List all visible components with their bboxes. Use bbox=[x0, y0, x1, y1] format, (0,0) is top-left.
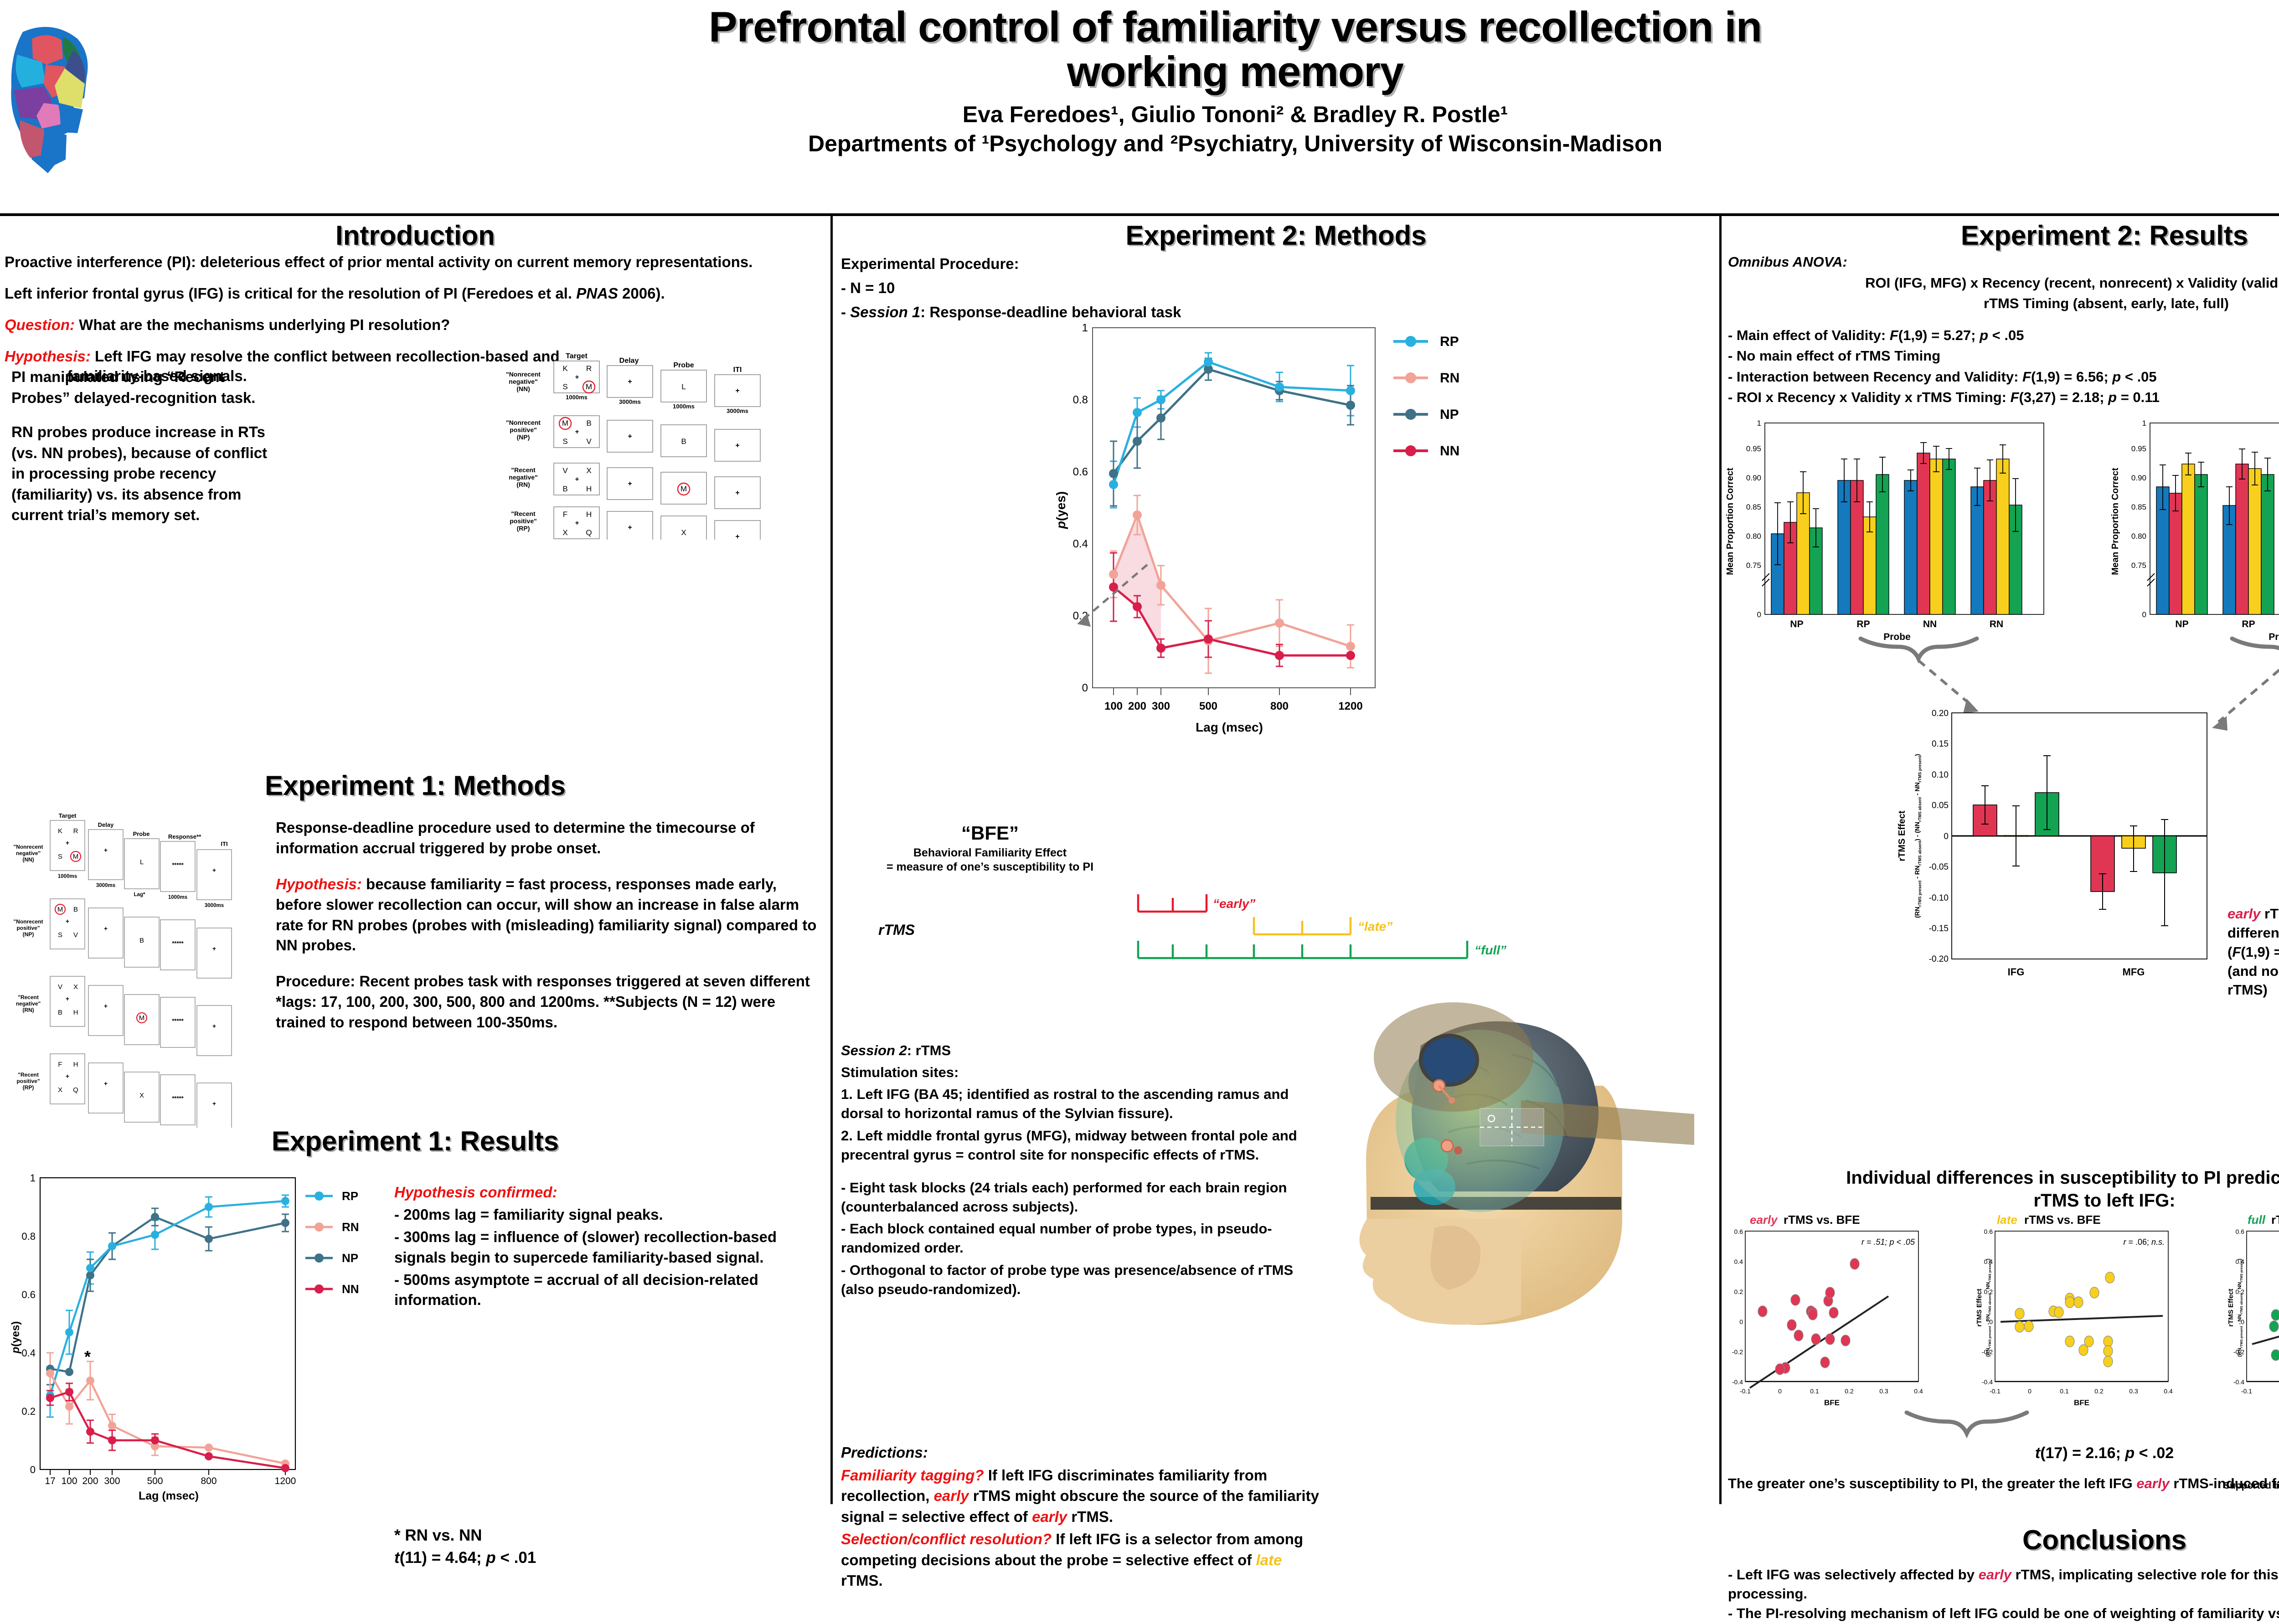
svg-text:K: K bbox=[562, 364, 568, 373]
svg-text:(RN): (RN) bbox=[22, 1007, 34, 1013]
svg-text:NP: NP bbox=[1790, 619, 1803, 629]
svg-text:NN: NN bbox=[342, 1282, 359, 1296]
svg-text:*****: ***** bbox=[172, 940, 184, 947]
svg-text:"Nonrecent: "Nonrecent bbox=[506, 371, 541, 378]
exp1-results-b1: - 200ms lag = familiarity signal peaks. bbox=[394, 1205, 818, 1225]
column-exp2-methods: Experiment 2: Methods Experimental Proce… bbox=[833, 216, 1719, 1504]
svg-text:IFG: IFG bbox=[2008, 966, 2025, 978]
svg-text:*****: ***** bbox=[172, 1095, 184, 1102]
exp1-stat-line-1: * RN vs. NN bbox=[394, 1524, 804, 1547]
svg-text:F: F bbox=[58, 1061, 62, 1068]
svg-text:0.3: 0.3 bbox=[1879, 1387, 1888, 1395]
scatter-late-title-em: late bbox=[1997, 1213, 2017, 1227]
rtms-timeline-label: rTMS bbox=[878, 922, 915, 938]
svg-text:0.8: 0.8 bbox=[21, 1231, 36, 1242]
svg-text:+: + bbox=[628, 524, 632, 531]
exp1-stat-line-2: t(11) = 4.64; p < .01 bbox=[394, 1547, 804, 1569]
indiv-head-line-2: rTMS to left IFG: bbox=[2033, 1191, 2175, 1211]
svg-text:0: 0 bbox=[2028, 1387, 2032, 1395]
svg-text:"Recent: "Recent bbox=[18, 994, 39, 1000]
svg-text:500: 500 bbox=[1199, 700, 1217, 712]
svg-text:positive": positive" bbox=[16, 1078, 40, 1084]
svg-text:1000ms: 1000ms bbox=[168, 895, 187, 900]
svg-text:+: + bbox=[212, 1100, 216, 1107]
svg-text:0.85: 0.85 bbox=[1746, 503, 1761, 511]
exp1-results-legend: RP RN NP NN bbox=[305, 1189, 359, 1296]
svg-text:rTMS Effect: rTMS Effect bbox=[1975, 1289, 1983, 1326]
diagram-header-delay: Delay bbox=[619, 357, 639, 365]
diagram-header-target: Target bbox=[566, 352, 588, 360]
svg-text:0.85: 0.85 bbox=[2131, 503, 2146, 511]
svg-text:0.75: 0.75 bbox=[2131, 561, 2146, 570]
session2-site-2: 2. Left middle frontal gyrus (MFG), midw… bbox=[841, 1126, 1301, 1165]
exp1-methods-hypothesis: Hypothesis: because familiarity = fast p… bbox=[276, 874, 823, 956]
section-heading-exp2-results: Experiment 2: Results bbox=[1722, 220, 2279, 251]
svg-text:0.8: 0.8 bbox=[1073, 394, 1088, 406]
anova-line-2: rTMS Timing (absent, early, late, full) bbox=[1728, 294, 2279, 313]
svg-text:0: 0 bbox=[1082, 682, 1088, 694]
svg-text:H: H bbox=[73, 1009, 78, 1016]
svg-text:"Nonrecent: "Nonrecent bbox=[13, 918, 43, 925]
scatter-full-title-rest: rTMS vs. BFE bbox=[2271, 1213, 2279, 1227]
svg-text:3000ms: 3000ms bbox=[619, 398, 641, 405]
svg-text:100: 100 bbox=[61, 1476, 77, 1486]
svg-text:BFE: BFE bbox=[1824, 1398, 1840, 1407]
svg-text:-0.4: -0.4 bbox=[1732, 1378, 1743, 1386]
pi-manipulation-text: PI manipulated using “Recent Probes” del… bbox=[11, 366, 276, 539]
exp1-results-stat: * RN vs. NN t(11) = 4.64; p < .01 bbox=[394, 1524, 804, 1569]
diagram-header-iti: ITI bbox=[733, 366, 742, 374]
svg-text:"Recent: "Recent bbox=[511, 466, 536, 474]
svg-text:+: + bbox=[628, 433, 632, 440]
scatter-plots-group: early rTMS vs. BFE r = .51; p < .05 0.60… bbox=[1728, 1212, 2279, 1444]
exp2-bfe-legend: RP RN NP NN bbox=[1393, 334, 1459, 459]
svg-text:+: + bbox=[628, 480, 632, 488]
svg-text:Mean Proportion Correct: Mean Proportion Correct bbox=[2110, 468, 2120, 575]
svg-text:F: F bbox=[563, 510, 567, 519]
timing-full-label: “full” bbox=[1475, 943, 1506, 957]
svg-text:0.90: 0.90 bbox=[1746, 474, 1761, 482]
svg-text:-0.15: -0.15 bbox=[1929, 924, 1949, 933]
svg-text:negative": negative" bbox=[16, 1000, 41, 1007]
anova-result-2: - No main effect of rTMS Timing bbox=[1728, 346, 2279, 366]
svg-text:300: 300 bbox=[104, 1476, 120, 1486]
predictions-label: Predictions: bbox=[841, 1442, 1324, 1463]
svg-text:X: X bbox=[73, 983, 78, 991]
svg-text:1000ms: 1000ms bbox=[58, 874, 77, 879]
svg-text:1000ms: 1000ms bbox=[673, 403, 695, 410]
exp1-methods-p2: Procedure: Recent probes task with respo… bbox=[276, 971, 823, 1033]
svg-text:0.05: 0.05 bbox=[1932, 801, 1949, 810]
svg-text:Lag (msec): Lag (msec) bbox=[139, 1490, 199, 1502]
authors: Eva Feredoes¹, Giulio Tononi² & Bradley … bbox=[346, 101, 2124, 128]
conclusion-2: - The PI-resolving mechanism of left IFG… bbox=[1728, 1604, 2279, 1623]
effect-text-4: rTMS) bbox=[2227, 982, 2268, 998]
svg-text:1000ms: 1000ms bbox=[566, 394, 588, 401]
scatter-full-title-em: full bbox=[2248, 1213, 2266, 1227]
svg-text:V: V bbox=[73, 931, 78, 939]
session2-sites-label: Stimulation sites: bbox=[841, 1063, 1301, 1082]
svg-text:+: + bbox=[628, 378, 632, 386]
svg-text:"Recent: "Recent bbox=[18, 1072, 39, 1078]
svg-text:0: 0 bbox=[1739, 1318, 1743, 1325]
svg-text:"Recent: "Recent bbox=[511, 510, 536, 517]
individual-differences-heading: Individual differences in susceptibility… bbox=[1735, 1166, 2279, 1212]
svg-text:0: 0 bbox=[1778, 1387, 1782, 1395]
svg-text:*****: ***** bbox=[172, 861, 184, 868]
exp2-session2-text: Session 2: rTMS Stimulation sites: 1. Le… bbox=[841, 1041, 1301, 1302]
svg-text:0.75: 0.75 bbox=[1746, 561, 1761, 570]
question-text: What are the mechanisms underlying PI re… bbox=[75, 316, 450, 333]
svg-text:+: + bbox=[104, 1080, 108, 1087]
svg-text:0.2: 0.2 bbox=[1734, 1288, 1743, 1295]
svg-text:17: 17 bbox=[45, 1476, 55, 1486]
svg-text:p(yes): p(yes) bbox=[1054, 491, 1068, 529]
prediction-2: Selection/conflict resolution? If left I… bbox=[841, 1529, 1324, 1591]
svg-text:0.80: 0.80 bbox=[1746, 532, 1761, 541]
indiv-head-line-1: Individual differences in susceptibility… bbox=[1846, 1168, 2279, 1188]
svg-text:H: H bbox=[586, 510, 592, 519]
exp2-bfe-chart: 1 0.8 0.6 0.4 0.2 0 p(yes) 100200300 500… bbox=[1033, 319, 1544, 797]
diagram-header-probe: Probe bbox=[673, 361, 694, 369]
svg-text:V: V bbox=[562, 466, 568, 475]
svg-text:0: 0 bbox=[2142, 610, 2146, 619]
svg-text:(NN): (NN) bbox=[516, 385, 530, 392]
question-label: Question: bbox=[5, 316, 75, 333]
rtms-timing-brackets: “early” “late” “full” bbox=[1029, 891, 1553, 973]
svg-text:+: + bbox=[735, 442, 739, 449]
svg-text:rTMS Effect: rTMS Effect bbox=[2227, 1289, 2235, 1326]
svg-text:+: + bbox=[212, 1022, 216, 1030]
svg-text:M: M bbox=[57, 906, 63, 913]
poster-header: W Prefrontal control of familiarity vers… bbox=[0, 0, 2279, 214]
svg-text:positive": positive" bbox=[16, 925, 40, 931]
exp2-effect-description: early rTMS had a significantly different… bbox=[2227, 904, 2279, 1000]
exp2-anova-text: Omnibus ANOVA: ROI (IFG, MFG) x Recency … bbox=[1728, 253, 2279, 409]
page-title: Prefrontal control of familiarity versus… bbox=[346, 5, 2124, 94]
section-heading-exp2-methods: Experiment 2: Methods bbox=[833, 220, 1719, 251]
section-heading-introduction: Introduction bbox=[0, 220, 830, 251]
svg-text:(RN): (RN) bbox=[516, 481, 530, 488]
timing-early-label: “early” bbox=[1213, 897, 1255, 911]
svg-text:+: + bbox=[66, 995, 69, 1002]
bfe-line-1: Behavioral Familiarity Effect bbox=[913, 846, 1067, 859]
svg-text:negative": negative" bbox=[509, 474, 537, 481]
svg-text:B: B bbox=[58, 1009, 62, 1016]
exp1-results-b2: - 300ms lag = influence of (slower) reco… bbox=[394, 1227, 818, 1268]
significance-asterisk: * bbox=[84, 1347, 91, 1366]
svg-text:+: + bbox=[66, 839, 69, 846]
svg-text:0.6: 0.6 bbox=[1734, 1228, 1743, 1235]
svg-text:-0.4: -0.4 bbox=[2233, 1378, 2244, 1386]
svg-text:0.15: 0.15 bbox=[1932, 739, 1949, 749]
svg-text:L: L bbox=[140, 858, 144, 866]
brain-puzzle-logo bbox=[5, 23, 100, 173]
svg-text:0.90: 0.90 bbox=[2131, 474, 2146, 482]
svg-text:3000ms: 3000ms bbox=[96, 883, 115, 888]
svg-text:3000ms: 3000ms bbox=[727, 407, 748, 414]
svg-text:S: S bbox=[58, 853, 62, 861]
exp1-header-target: Target bbox=[59, 812, 77, 819]
svg-text:+: + bbox=[66, 918, 69, 925]
scatter-early-stat: r = .51; p < .05 bbox=[1861, 1237, 1915, 1247]
svg-text:R: R bbox=[586, 364, 592, 373]
timing-late-label: “late” bbox=[1358, 919, 1392, 933]
svg-text:0: 0 bbox=[1944, 832, 1949, 841]
svg-text:RP: RP bbox=[1440, 334, 1459, 349]
svg-text:M: M bbox=[562, 419, 568, 428]
column-introduction: Introduction Proactive interference (PI)… bbox=[0, 216, 830, 1504]
svg-text:Q: Q bbox=[73, 1086, 78, 1094]
svg-text:B: B bbox=[139, 937, 144, 944]
bfe-abbr: “BFE” bbox=[876, 822, 1104, 844]
effect-text-3: (and no analogous difference for bbox=[2227, 963, 2279, 979]
svg-text:+: + bbox=[104, 1002, 108, 1010]
svg-text:B: B bbox=[73, 906, 78, 913]
scatter-late-title-rest: rTMS vs. BFE bbox=[2024, 1213, 2101, 1227]
svg-text:800: 800 bbox=[1270, 700, 1289, 712]
session2-bullet-2: - Each block contained equal number of p… bbox=[841, 1219, 1301, 1258]
svg-text:(NP): (NP) bbox=[517, 433, 530, 441]
svg-text:X: X bbox=[562, 528, 567, 537]
svg-text:+: + bbox=[212, 945, 216, 952]
svg-text:positive": positive" bbox=[510, 426, 537, 433]
svg-text:0.4: 0.4 bbox=[2164, 1387, 2173, 1395]
effect-text-2: (F(1,9) = 9.68; p < .05) bbox=[2227, 944, 2279, 960]
svg-text:X: X bbox=[681, 528, 686, 537]
svg-text:NP: NP bbox=[342, 1251, 358, 1265]
svg-text:-0.05: -0.05 bbox=[1929, 862, 1949, 872]
svg-text:MFG: MFG bbox=[2123, 966, 2145, 978]
scatter-early-title-em: early bbox=[1750, 1213, 1778, 1227]
svg-text:negative": negative" bbox=[509, 378, 537, 385]
svg-text:(RNrTMS present - RNrTMS absen: (RNrTMS present - RNrTMS absent - NNrTMS… bbox=[1985, 1258, 1992, 1357]
svg-text:1200: 1200 bbox=[1338, 700, 1362, 712]
intro-paragraph-1: Proactive interference (PI): deleterious… bbox=[5, 253, 807, 272]
svg-text:+: + bbox=[212, 866, 216, 874]
exp1-results-b3: - 500ms asymptote = accrual of all decis… bbox=[394, 1270, 818, 1311]
bfe-definition: Behavioral Familiarity Effect = measure … bbox=[876, 846, 1104, 875]
svg-text:0: 0 bbox=[30, 1464, 36, 1475]
svg-text:3000ms: 3000ms bbox=[205, 903, 224, 908]
exp1-trial-diagram: Target Delay Probe Response** ITI "Nonre… bbox=[0, 809, 283, 1128]
exp1-methods-text: Response-deadline procedure used to dete… bbox=[276, 818, 823, 1048]
svg-text:RN: RN bbox=[1440, 371, 1459, 386]
svg-text:(RNrTMS present - RNrTMS absen: (RNrTMS present - RNrTMS absent) - (NNrT… bbox=[1913, 754, 1922, 918]
exp1-header-delay: Delay bbox=[98, 821, 114, 828]
svg-text:Q: Q bbox=[586, 528, 592, 537]
effect-early-label: early bbox=[2227, 906, 2260, 922]
svg-text:0.4: 0.4 bbox=[21, 1347, 36, 1359]
exp1-header-iti: ITI bbox=[221, 840, 227, 847]
svg-text:+: + bbox=[575, 519, 579, 527]
bfe-annotation: “BFE” Behavioral Familiarity Effect = me… bbox=[876, 822, 1104, 875]
svg-text:X: X bbox=[586, 466, 591, 475]
tms-head-model-image bbox=[1284, 964, 1717, 1401]
svg-text:Mean Proportion Correct: Mean Proportion Correct bbox=[1725, 468, 1735, 575]
scatter-late-stat: r = .06; n.s. bbox=[2123, 1237, 2165, 1247]
svg-text:RP: RP bbox=[342, 1189, 358, 1203]
svg-text:0.2: 0.2 bbox=[1845, 1387, 1854, 1395]
svg-text:(NN): (NN) bbox=[22, 856, 34, 863]
conclusion-1: - Left IFG was selectively affected by e… bbox=[1728, 1565, 2279, 1603]
exp2-procedure-text: Experimental Procedure: - N = 10 - Sessi… bbox=[841, 253, 1297, 326]
svg-text:+: + bbox=[575, 373, 579, 381]
svg-text:NN: NN bbox=[1440, 443, 1459, 459]
svg-text:X: X bbox=[58, 1086, 62, 1094]
svg-text:NP: NP bbox=[2175, 619, 2188, 629]
svg-text:H: H bbox=[586, 485, 592, 493]
svg-text:RN: RN bbox=[342, 1220, 359, 1234]
svg-text:0.6: 0.6 bbox=[1984, 1228, 1993, 1235]
anova-line-1: ROI (IFG, MFG) x Recency (recent, nonrec… bbox=[1728, 273, 2279, 293]
scatter-early-title-rest: rTMS vs. BFE bbox=[1784, 1213, 1860, 1227]
svg-text:M: M bbox=[139, 1014, 145, 1022]
anova-result-3: - Interaction between Recency and Validi… bbox=[1728, 367, 2279, 387]
svg-text:Lag (msec): Lag (msec) bbox=[1196, 720, 1263, 734]
svg-text:+: + bbox=[104, 925, 108, 932]
svg-text:0.1: 0.1 bbox=[2060, 1387, 2069, 1395]
exp2-rtms-effect-chart: 0.20 0.15 0.10 0.05 0 -0.05 -0.10 -0.15 … bbox=[1872, 704, 2237, 1000]
svg-text:(NP): (NP) bbox=[23, 931, 34, 938]
exp1-header-probe: Probe bbox=[133, 830, 150, 837]
svg-text:500: 500 bbox=[147, 1476, 163, 1486]
section-heading-exp1-results: Experiment 1: Results bbox=[0, 1125, 830, 1157]
svg-text:1: 1 bbox=[1082, 322, 1088, 334]
svg-text:"Nonrecent: "Nonrecent bbox=[506, 419, 541, 426]
svg-text:+: + bbox=[735, 533, 739, 540]
section-heading-exp1-methods: Experiment 1: Methods bbox=[0, 770, 830, 801]
svg-text:RP: RP bbox=[2242, 619, 2255, 629]
svg-text:-0.10: -0.10 bbox=[1929, 893, 1949, 903]
svg-text:300: 300 bbox=[1152, 700, 1170, 712]
svg-text:+: + bbox=[575, 428, 579, 436]
proc-label: Experimental Procedure: bbox=[841, 253, 1297, 275]
svg-text:H: H bbox=[73, 1061, 78, 1068]
svg-text:S: S bbox=[562, 382, 567, 391]
svg-text:BFE: BFE bbox=[2074, 1398, 2089, 1407]
intro-paragraph-2: Left inferior frontal gyrus (IFG) is cri… bbox=[5, 284, 807, 304]
exp1-results-conf-label: Hypothesis confirmed: bbox=[394, 1182, 818, 1203]
svg-text:200: 200 bbox=[1128, 700, 1146, 712]
bfe-line-2: = measure of one’s susceptibility to PI bbox=[887, 861, 1093, 873]
exp2-mfg-bar-chart: 1 0.95 0.90 0.85 0.80 0.75 0 Mean Propor… bbox=[2068, 417, 2279, 644]
svg-text:Lag*: Lag* bbox=[134, 892, 145, 897]
proc-n: - N = 10 bbox=[841, 278, 1297, 299]
svg-text:(RP): (RP) bbox=[517, 525, 530, 532]
svg-text:RN: RN bbox=[1990, 619, 2003, 629]
svg-text:M: M bbox=[681, 485, 687, 493]
svg-text:p(yes): p(yes) bbox=[10, 1321, 22, 1354]
exp1-results-text: Hypothesis confirmed: - 200ms lag = fami… bbox=[394, 1182, 818, 1312]
svg-text:(RP): (RP) bbox=[23, 1084, 34, 1091]
svg-text:0: 0 bbox=[1757, 610, 1761, 619]
pi-paragraph-1: PI manipulated using “Recent Probes” del… bbox=[11, 366, 276, 408]
anova-result-1: - Main effect of Validity: F(1,9) = 5.27… bbox=[1728, 326, 2279, 345]
session2-site-1: 1. Left IFG (BA 45; identified as rostra… bbox=[841, 1085, 1301, 1123]
svg-text:K: K bbox=[58, 827, 62, 835]
pi-paragraph-2: RN probes produce increase in RTs (vs. N… bbox=[11, 422, 276, 526]
svg-text:+: + bbox=[104, 846, 108, 854]
svg-text:0.80: 0.80 bbox=[2131, 532, 2146, 541]
svg-text:R: R bbox=[73, 827, 78, 835]
prediction-1: Familiarity tagging? If left IFG discrim… bbox=[841, 1465, 1324, 1527]
svg-text:RP: RP bbox=[1856, 619, 1870, 629]
svg-text:0.20: 0.20 bbox=[1932, 709, 1949, 718]
svg-text:B: B bbox=[681, 437, 686, 446]
svg-text:NN: NN bbox=[1923, 619, 1937, 629]
anova-label: Omnibus ANOVA: bbox=[1728, 253, 2279, 272]
poster-root: W Prefrontal control of familiarity vers… bbox=[0, 0, 2279, 1504]
svg-text:200: 200 bbox=[82, 1476, 98, 1486]
svg-text:800: 800 bbox=[201, 1476, 217, 1486]
svg-text:0.6: 0.6 bbox=[2236, 1228, 2245, 1235]
svg-text:0.95: 0.95 bbox=[1746, 444, 1761, 453]
svg-text:-0.1: -0.1 bbox=[1740, 1387, 1751, 1395]
departments: Departments of ¹Psychology and ²Psychiat… bbox=[346, 130, 2124, 157]
svg-text:+: + bbox=[575, 475, 579, 483]
section-heading-conclusions: Conclusions bbox=[1722, 1524, 2279, 1556]
exp1-header-response: Response** bbox=[168, 833, 201, 840]
svg-text:-0.1: -0.1 bbox=[1990, 1387, 2001, 1395]
svg-text:0.4: 0.4 bbox=[1914, 1387, 1923, 1395]
svg-text:0.2: 0.2 bbox=[21, 1406, 36, 1417]
session2-head: Session 2: rTMS bbox=[841, 1041, 1301, 1060]
conclusions-text: - Left IFG was selectively affected by e… bbox=[1728, 1565, 2279, 1624]
session2-bullet-3: - Orthogonal to factor of probe type was… bbox=[841, 1261, 1301, 1299]
svg-text:S: S bbox=[562, 437, 567, 446]
trial-structure-diagram: Target Delay Probe ITI "Nonrecent negati… bbox=[483, 348, 820, 540]
svg-text:V: V bbox=[58, 983, 62, 991]
exp1-hyp-label: Hypothesis: bbox=[276, 876, 362, 892]
svg-text:0.4: 0.4 bbox=[1734, 1258, 1743, 1265]
svg-text:M: M bbox=[73, 853, 79, 861]
svg-text:-0.20: -0.20 bbox=[1929, 954, 1949, 964]
anova-result-4: - ROI x Recency x Validity x rTMS Timing… bbox=[1728, 388, 2279, 407]
svg-text:rTMS Effect: rTMS Effect bbox=[1897, 810, 1907, 861]
svg-text:-0.1: -0.1 bbox=[2241, 1387, 2252, 1395]
svg-text:(RNrTMS present - NNrTMS absen: (RNrTMS present - NNrTMS absent - NNrTMS… bbox=[2237, 1258, 2243, 1357]
svg-text:M: M bbox=[586, 382, 592, 391]
svg-text:+: + bbox=[735, 387, 739, 395]
column-exp2-results: Experiment 2: Results Omnibus ANOVA: ROI… bbox=[1722, 216, 2279, 1504]
svg-text:1: 1 bbox=[1757, 419, 1761, 428]
title-line-1: Prefrontal control of familiarity versus… bbox=[709, 3, 1762, 51]
svg-text:NP: NP bbox=[1440, 407, 1459, 422]
svg-text:negative": negative" bbox=[16, 850, 41, 856]
svg-text:L: L bbox=[681, 382, 686, 391]
svg-text:0.6: 0.6 bbox=[1073, 466, 1088, 478]
svg-text:+: + bbox=[735, 489, 739, 497]
intro-question: Question: What are the mechanisms underl… bbox=[5, 315, 807, 335]
svg-text:1200: 1200 bbox=[275, 1476, 296, 1486]
title-line-2: working memory bbox=[1067, 47, 1403, 95]
svg-text:100: 100 bbox=[1104, 700, 1123, 712]
session2-bullet-1: - Eight task blocks (24 trials each) per… bbox=[841, 1178, 1301, 1217]
svg-text:0.10: 0.10 bbox=[1932, 770, 1949, 780]
svg-text:-0.4: -0.4 bbox=[1982, 1378, 1993, 1386]
title-block: Prefrontal control of familiarity versus… bbox=[346, 5, 2124, 157]
svg-text:1: 1 bbox=[30, 1172, 36, 1184]
svg-text:V: V bbox=[586, 437, 592, 446]
svg-text:0.4: 0.4 bbox=[1073, 538, 1088, 550]
svg-text:X: X bbox=[139, 1092, 144, 1099]
hypothesis-label: Hypothesis: bbox=[5, 348, 91, 365]
svg-text:"Nonrecent: "Nonrecent bbox=[13, 844, 43, 850]
svg-text:+: + bbox=[66, 1072, 69, 1080]
svg-text:1: 1 bbox=[2142, 419, 2146, 428]
svg-text:-0.2: -0.2 bbox=[1732, 1348, 1743, 1356]
